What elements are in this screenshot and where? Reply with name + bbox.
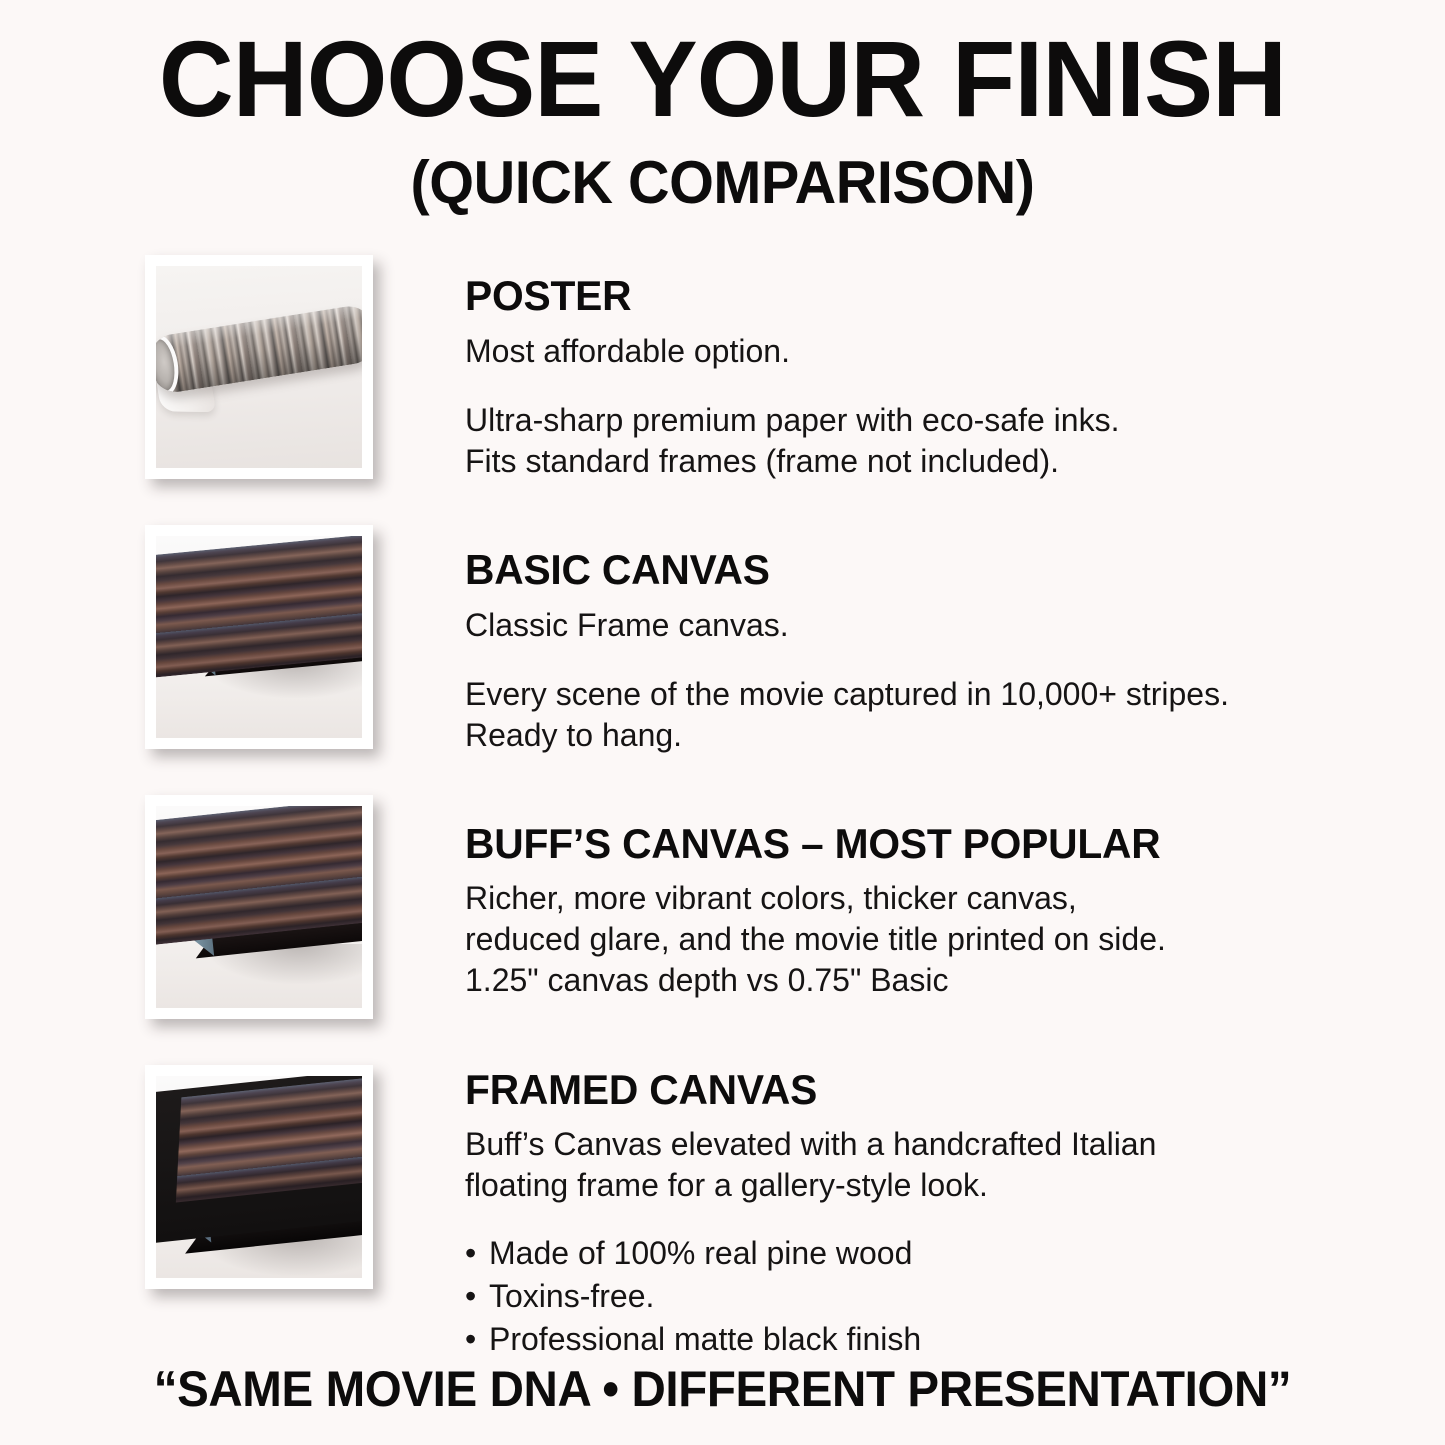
framed-canvas-text-block: FRAMED CANVAS Buff’s Canvas elevated wit…: [465, 1066, 1365, 1361]
buffs-canvas-artwork: [156, 806, 362, 1008]
option-lead-basic-canvas: Classic Frame canvas.: [465, 604, 1365, 646]
basic-canvas-thumbnail: [145, 525, 373, 749]
framed-canvas-artwork: [156, 1076, 362, 1278]
thumbnail-image-area: [156, 806, 362, 1008]
basic-canvas-text-block: BASIC CANVAS Classic Frame canvas. Every…: [465, 546, 1365, 756]
footer-tagline: “SAME MOVIE DNA • DIFFERENT PRESENTATION…: [36, 1360, 1409, 1418]
option-title-basic-canvas: BASIC CANVAS: [465, 546, 1338, 594]
option-body-framed-canvas: Buff’s Canvas elevated with a handcrafte…: [465, 1124, 1365, 1206]
poster-roll-end-icon: [156, 333, 182, 396]
option-row-buffs-canvas: BUFF’S CANVAS – MOST POPULAR Richer, mor…: [0, 790, 1445, 1030]
framed-canvas-feature-list: Made of 100% real pine wood Toxins-free.…: [465, 1232, 1365, 1361]
canvas-striped-face-icon: [156, 536, 362, 679]
footer: “SAME MOVIE DNA • DIFFERENT PRESENTATION…: [0, 1360, 1445, 1418]
page-subtitle: (QUICK COMPARISON): [29, 150, 1416, 216]
list-item: Professional matte black finish: [465, 1318, 1365, 1361]
framed-canvas-thumbnail: [145, 1065, 373, 1289]
option-row-framed-canvas: FRAMED CANVAS Buff’s Canvas elevated wit…: [0, 1060, 1445, 1300]
poster-roll-body-icon: [156, 303, 362, 396]
option-body-poster: Ultra-sharp premium paper with eco-safe …: [465, 400, 1365, 482]
header: CHOOSE YOUR FINISH (QUICK COMPARISON): [0, 26, 1445, 216]
thumbnail-image-area: [156, 266, 362, 468]
thumbnail-image-area: [156, 1076, 362, 1278]
page-title: CHOOSE YOUR FINISH: [29, 26, 1416, 132]
buffs-canvas-text-block: BUFF’S CANVAS – MOST POPULAR Richer, mor…: [465, 820, 1365, 1001]
option-title-buffs-canvas: BUFF’S CANVAS – MOST POPULAR: [465, 820, 1338, 868]
option-lead-poster: Most affordable option.: [465, 330, 1365, 372]
canvas-striped-face-icon: [176, 1076, 362, 1202]
option-row-poster: POSTER Most affordable option. Ultra-sha…: [0, 250, 1445, 490]
poster-text-block: POSTER Most affordable option. Ultra-sha…: [465, 272, 1365, 482]
poster-roll-artwork: [156, 266, 362, 468]
option-title-framed-canvas: FRAMED CANVAS: [465, 1066, 1338, 1114]
basic-canvas-artwork: [156, 536, 362, 738]
option-body-buffs-canvas: Richer, more vibrant colors, thicker can…: [465, 878, 1365, 1001]
canvas-striped-face-icon: [156, 806, 362, 947]
option-row-basic-canvas: BASIC CANVAS Classic Frame canvas. Every…: [0, 520, 1445, 760]
thumbnail-image-area: [156, 536, 362, 738]
option-body-basic-canvas: Every scene of the movie captured in 10,…: [465, 674, 1365, 756]
list-item: Made of 100% real pine wood: [465, 1232, 1365, 1275]
buffs-canvas-thumbnail: [145, 795, 373, 1019]
list-item: Toxins-free.: [465, 1275, 1365, 1318]
poster-roll-thumbnail: [145, 255, 373, 479]
infographic-page: CHOOSE YOUR FINISH (QUICK COMPARISON) PO…: [0, 0, 1445, 1445]
option-title-poster: POSTER: [465, 272, 1338, 320]
